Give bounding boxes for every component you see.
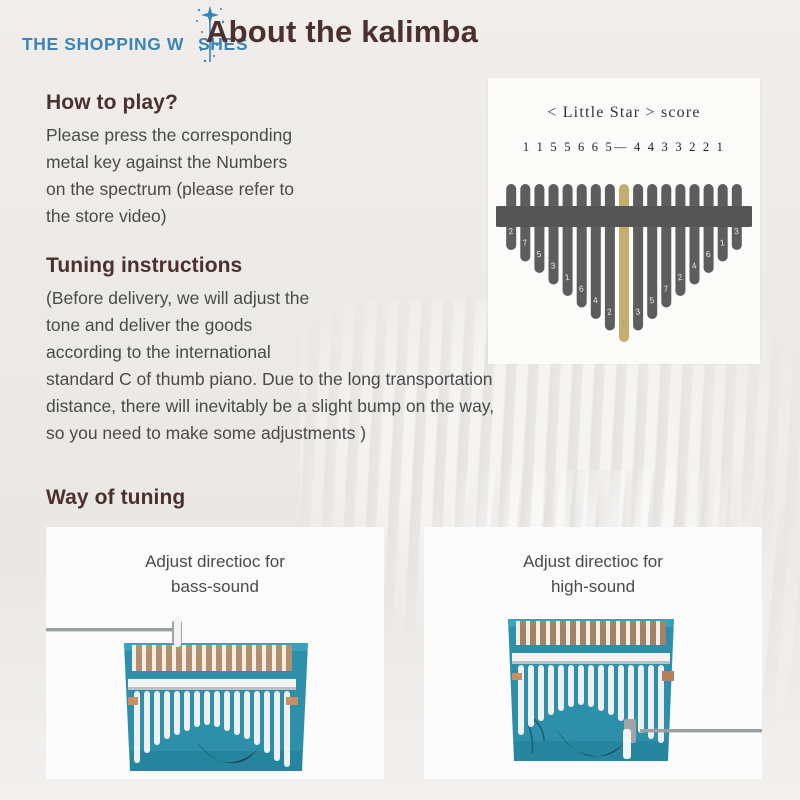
heading-how-to-play: How to play?: [46, 92, 178, 113]
score-card-title: < Little Star > score: [488, 104, 760, 122]
panel-bass-tuning: Adjust directioc for bass-sound: [46, 527, 384, 779]
kalimba-tine: [534, 184, 544, 273]
kalimba-tine: [704, 184, 714, 273]
page-title: About the kalimba: [206, 16, 478, 47]
caption-bass-tuning: Adjust directioc for bass-sound: [46, 549, 384, 599]
brand-logo-text-left: THE SHOPPING W: [22, 34, 184, 54]
heading-way-of-tuning: Way of tuning: [46, 487, 185, 508]
little-star-score-card: < Little Star > score 1 1 5 5 6 6 5— 4 4…: [488, 78, 760, 364]
kalimba-bridge-bar: [496, 206, 752, 227]
kalimba-bass-tuning-photo: [46, 601, 384, 779]
heading-tuning-instructions: Tuning instructions: [46, 255, 242, 276]
panel-high-tuning: Adjust directioc for high-sound: [424, 527, 762, 779]
kalimba-tine-diagram: 27531642135724613: [496, 176, 752, 356]
kalimba-high-tuning-photo: [424, 601, 762, 779]
score-card-notes: 1 1 5 5 6 6 5— 4 4 3 3 2 2 1: [488, 140, 760, 155]
caption-high-tuning: Adjust directioc for high-sound: [424, 549, 762, 599]
text-how-to-play: Please press the corresponding metal key…: [46, 122, 426, 230]
